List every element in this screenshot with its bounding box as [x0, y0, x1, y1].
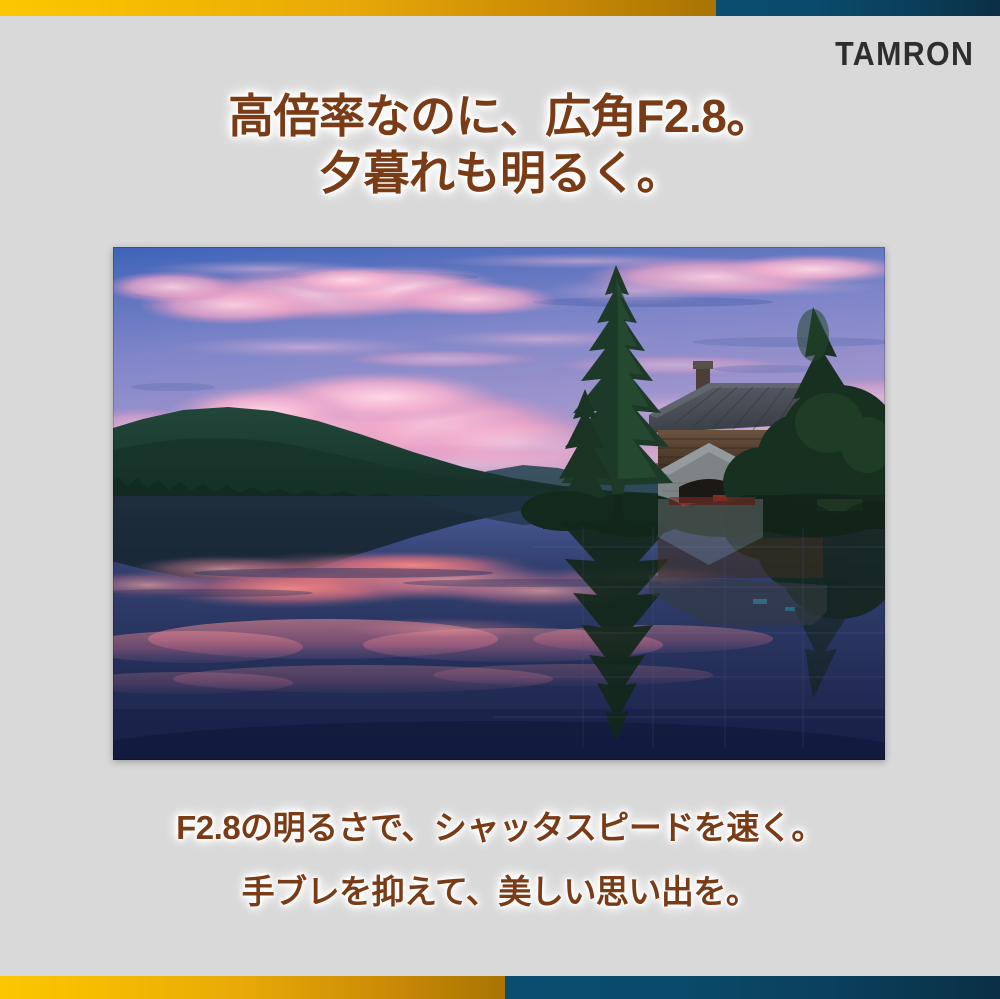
- brand-bar-gold-segment: [0, 0, 716, 16]
- top-brand-bar: [0, 0, 1000, 16]
- product-sample-photo: [113, 247, 885, 760]
- brand-logo: TAMRON: [823, 35, 974, 71]
- brand-bar-blue-segment-bottom: [505, 976, 1000, 999]
- tamron-logo-wordmark: TAMRON: [835, 37, 974, 70]
- brand-bar-gold-segment-bottom: [0, 976, 505, 999]
- lakeside-sunset-illustration: [113, 247, 885, 760]
- headline-block: 高倍率なのに、広角F2.8。 夕暮れも明るく。: [0, 88, 1000, 202]
- caption-line-2: 手ブレを抑えて、美しい思い出を。: [0, 860, 1000, 924]
- tamron-ad-banner: TAMRON 高倍率なのに、広角F2.8。 夕暮れも明るく。: [0, 0, 1000, 999]
- bottom-brand-bar: [0, 976, 1000, 999]
- caption-line-1: F2.8の明るさで、シャッタスピードを速く。: [0, 796, 1000, 860]
- brand-bar-blue-segment: [716, 0, 1000, 16]
- headline-line-1: 高倍率なのに、広角F2.8。: [0, 88, 1000, 145]
- caption-block: F2.8の明るさで、シャッタスピードを速く。 手ブレを抑えて、美しい思い出を。: [0, 796, 1000, 924]
- headline-line-2: 夕暮れも明るく。: [0, 145, 1000, 202]
